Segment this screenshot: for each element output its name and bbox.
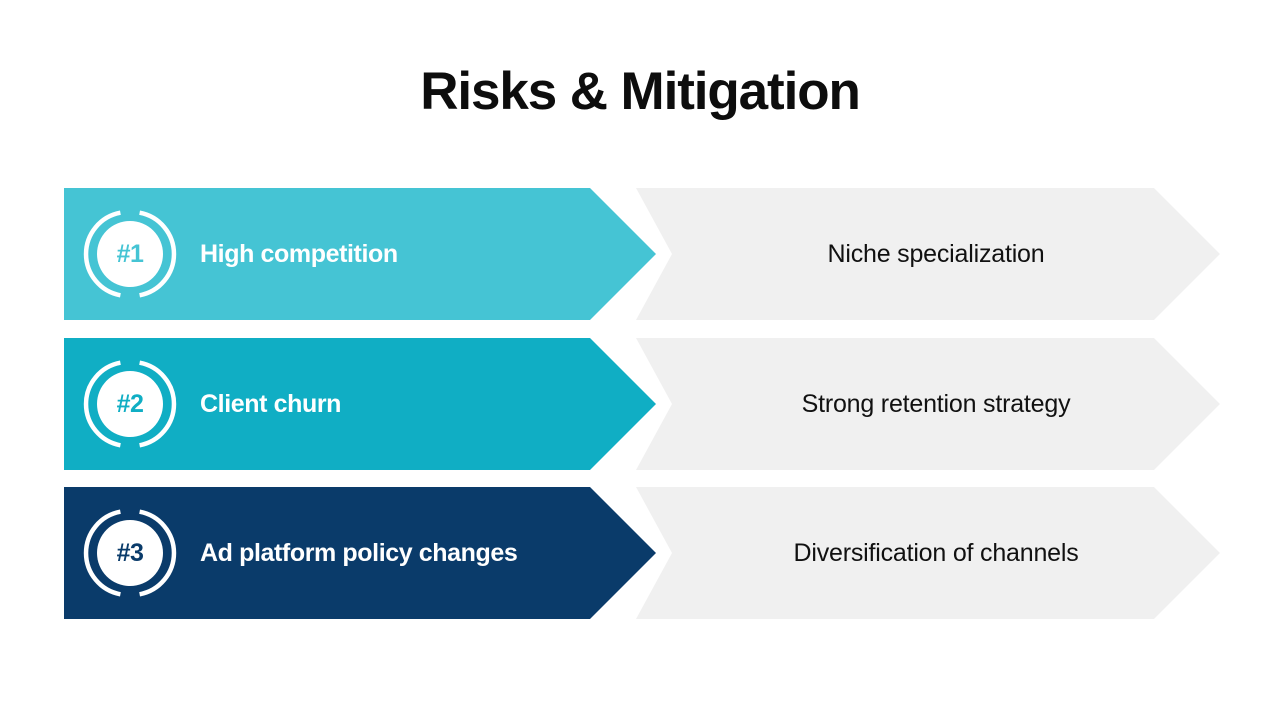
risk-label: High competition xyxy=(200,238,398,270)
risk-arrow-1[interactable]: #1 High competition xyxy=(64,188,656,320)
slide-canvas: Risks & Mitigation #1 High competition N… xyxy=(0,0,1280,720)
risk-row: #3 Ad platform policy changes Diversific… xyxy=(0,487,1280,619)
risk-badge-number: #3 xyxy=(82,505,178,601)
mitigation-chevron-1[interactable]: Niche specialization xyxy=(636,188,1220,320)
risk-arrow-2[interactable]: #2 Client churn xyxy=(64,338,656,470)
risk-badge-number: #2 xyxy=(82,356,178,452)
mitigation-label: Strong retention strategy xyxy=(802,388,1071,420)
risk-arrow-3[interactable]: #3 Ad platform policy changes xyxy=(64,487,656,619)
risk-badge-1: #1 xyxy=(82,206,178,302)
risk-row: #2 Client churn Strong retention strateg… xyxy=(0,338,1280,470)
risk-label: Client churn xyxy=(200,388,341,420)
risk-badge-3: #3 xyxy=(82,505,178,601)
mitigation-label: Diversification of channels xyxy=(793,537,1078,569)
mitigation-chevron-2[interactable]: Strong retention strategy xyxy=(636,338,1220,470)
mitigation-label: Niche specialization xyxy=(828,238,1045,270)
risk-badge-2: #2 xyxy=(82,356,178,452)
risk-badge-number: #1 xyxy=(82,206,178,302)
risk-row: #1 High competition Niche specialization xyxy=(0,188,1280,320)
risk-label: Ad platform policy changes xyxy=(200,537,517,569)
page-title: Risks & Mitigation xyxy=(0,58,1280,126)
mitigation-chevron-3[interactable]: Diversification of channels xyxy=(636,487,1220,619)
